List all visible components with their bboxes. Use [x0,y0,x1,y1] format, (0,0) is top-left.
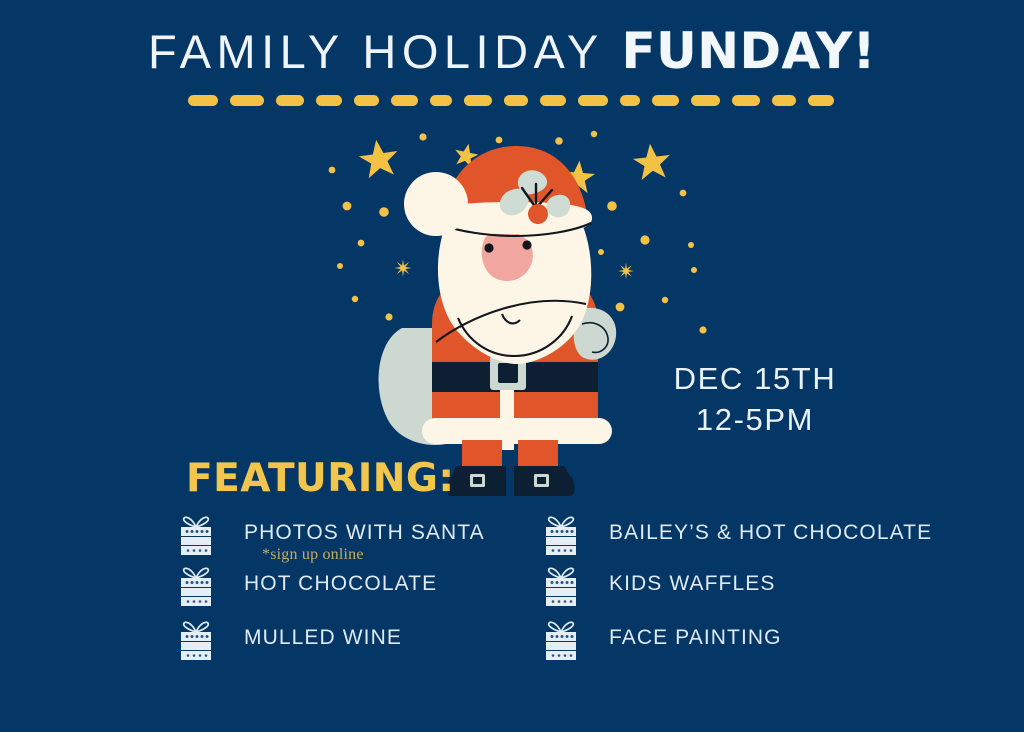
gift-box-icon [541,514,581,558]
santa-pom-pom [404,172,468,236]
divider-dash [230,95,264,106]
santa-leg-left [462,440,502,470]
divider-dash [504,95,528,106]
featuring-heading: FEATURING: [186,456,455,501]
santa-buckle-hole [498,363,518,383]
list-item-label: MULLED WINE [244,626,402,650]
event-time: 12-5PM [655,399,855,440]
gift-box-icon [541,565,581,609]
list-item: PHOTOS WITH SANTA *sign up online [176,512,536,563]
list-item-note: *sign up online [262,546,364,564]
list-item-label: KIDS WAFFLES [609,572,775,596]
featuring-left-column: PHOTOS WITH SANTA *sign up online [176,512,536,668]
dashed-divider [188,92,834,108]
santa-eye-right [522,240,531,249]
holly-berry [528,204,548,224]
list-item: FACE PAINTING [541,617,961,668]
list-item: BAILEY’S & HOT CHOCOLATE [541,512,961,563]
divider-dash [772,95,796,106]
holiday-poster: FAMILY HOLIDAY FUNDAY! [0,0,1024,732]
divider-dash [354,95,379,106]
santa-claus-illustration [350,128,680,498]
divider-dash [691,95,720,106]
list-item-label: FACE PAINTING [609,626,782,650]
title-light-part: FAMILY HOLIDAY [148,25,621,78]
divider-dash [808,95,834,106]
event-date: DEC 15TH [655,358,855,399]
divider-dash [652,95,679,106]
featuring-right-column: BAILEY’S & HOT CHOCOLATE [541,512,961,668]
list-item-label: PHOTOS WITH SANTA [244,521,485,545]
divider-dash [540,95,566,106]
title-bold-part: FUNDAY! [621,22,876,80]
gift-box-icon [176,565,216,609]
gift-box-icon [541,619,581,663]
divider-dash [391,95,418,106]
divider-dash [276,95,304,106]
divider-dash [430,95,452,106]
divider-dash [316,95,342,106]
list-item-label: BAILEY’S & HOT CHOCOLATE [609,521,932,545]
poster-title: FAMILY HOLIDAY FUNDAY! [0,22,1024,80]
list-item-label: HOT CHOCOLATE [244,572,437,596]
event-date-block: DEC 15TH 12-5PM [655,358,855,440]
santa-eye-left [484,243,493,252]
divider-dash [732,95,760,106]
divider-dash [188,95,218,106]
gift-box-icon [176,619,216,663]
santa-leg-right [518,440,558,470]
divider-dash [578,95,608,106]
list-item: KIDS WAFFLES [541,563,961,614]
divider-dash [620,95,640,106]
santa-coat-hem [422,418,612,444]
gift-box-icon [176,514,216,558]
divider-dash [464,95,492,106]
list-item: HOT CHOCOLATE [176,563,536,614]
list-item: MULLED WINE [176,617,536,668]
